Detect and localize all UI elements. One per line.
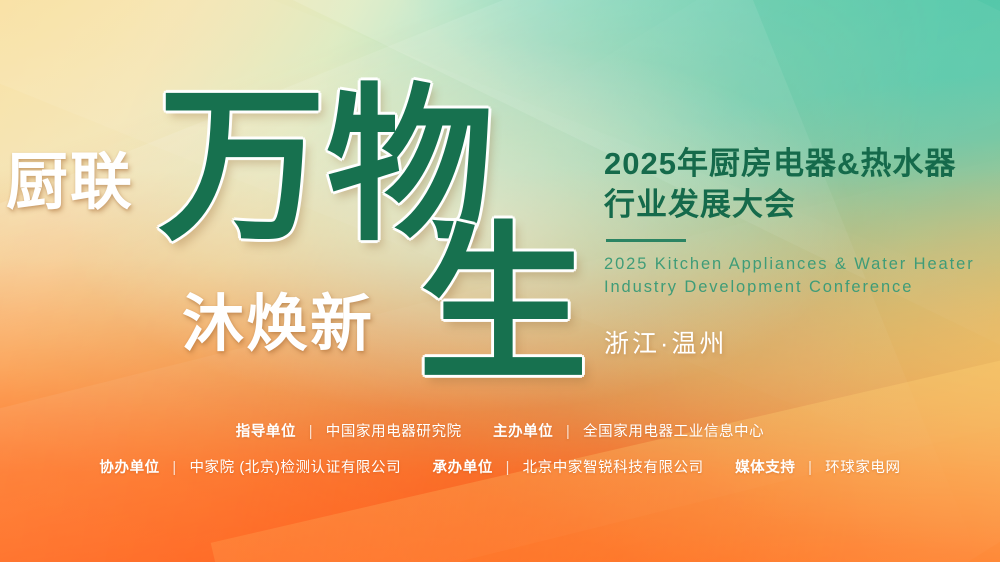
sponsor-credits: 指导单位 | 中国家用电器研究院 主办单位 | 全国家用电器工业信息中心 协办单… — [0, 425, 1000, 496]
sponsor-separator: | — [309, 425, 313, 440]
sponsor-row-1: 指导单位 | 中国家用电器研究院 主办单位 | 全国家用电器工业信息中心 — [0, 425, 1000, 440]
sponsor-group: 主办单位 | 全国家用电器工业信息中心 — [493, 425, 764, 440]
sponsor-label: 协办单位 — [99, 460, 159, 476]
slogan-word-chulian: 厨联 — [6, 152, 134, 214]
sponsor-value: 全国家用电器工业信息中心 — [583, 424, 764, 440]
sponsor-label: 主办单位 — [493, 424, 553, 440]
sponsor-value: 中国家用电器研究院 — [326, 424, 462, 440]
sponsor-group: 媒体支持 | 环球家电网 — [735, 461, 901, 476]
sponsor-label: 指导单位 — [236, 424, 296, 440]
sponsor-group: 承办单位 | 北京中家智锐科技有限公司 — [433, 461, 704, 476]
sponsor-row-2: 协办单位 | 中家院 (北京)检测认证有限公司 承办单位 | 北京中家智锐科技有… — [0, 461, 1000, 476]
sponsor-separator: | — [172, 461, 176, 476]
sponsor-separator: | — [506, 461, 510, 476]
headline-english-line1: 2025 Kitchen Appliances & Water Heater — [604, 253, 996, 276]
sponsor-label: 媒体支持 — [735, 460, 795, 476]
sponsor-group: 协办单位 | 中家院 (北京)检测认证有限公司 — [99, 461, 401, 476]
headline-block: 2025年厨房电器&热水器 行业发展大会 2025 Kitchen Applia… — [604, 144, 996, 360]
event-location: 浙江·温州 — [604, 324, 996, 360]
slogan-word-sheng: 生 — [418, 222, 588, 392]
sponsor-group: 指导单位 | 中国家用电器研究院 — [236, 425, 462, 440]
poster-content: 厨联 万物 沐焕新 生 2025年厨房电器&热水器 行业发展大会 2025 Ki… — [0, 0, 1000, 562]
headline-divider-rule — [606, 239, 686, 242]
sponsor-separator: | — [808, 461, 812, 476]
slogan-word-muhuanxin: 沐焕新 — [182, 294, 374, 356]
headline-title-line1: 2025年厨房电器&热水器 — [604, 144, 996, 185]
headline-title-line2: 行业发展大会 — [604, 185, 996, 226]
conference-key-visual-poster: 厨联 万物 沐焕新 生 2025年厨房电器&热水器 行业发展大会 2025 Ki… — [0, 0, 1000, 562]
sponsor-label: 承办单位 — [433, 460, 493, 476]
sponsor-value: 中家院 (北京)检测认证有限公司 — [189, 460, 401, 476]
slogan-lockup: 厨联 万物 沐焕新 生 — [0, 0, 600, 420]
headline-english-line2: Industry Development Conference — [604, 276, 996, 299]
sponsor-separator: | — [566, 425, 570, 440]
sponsor-value: 北京中家智锐科技有限公司 — [523, 460, 704, 476]
sponsor-value: 环球家电网 — [825, 460, 901, 476]
